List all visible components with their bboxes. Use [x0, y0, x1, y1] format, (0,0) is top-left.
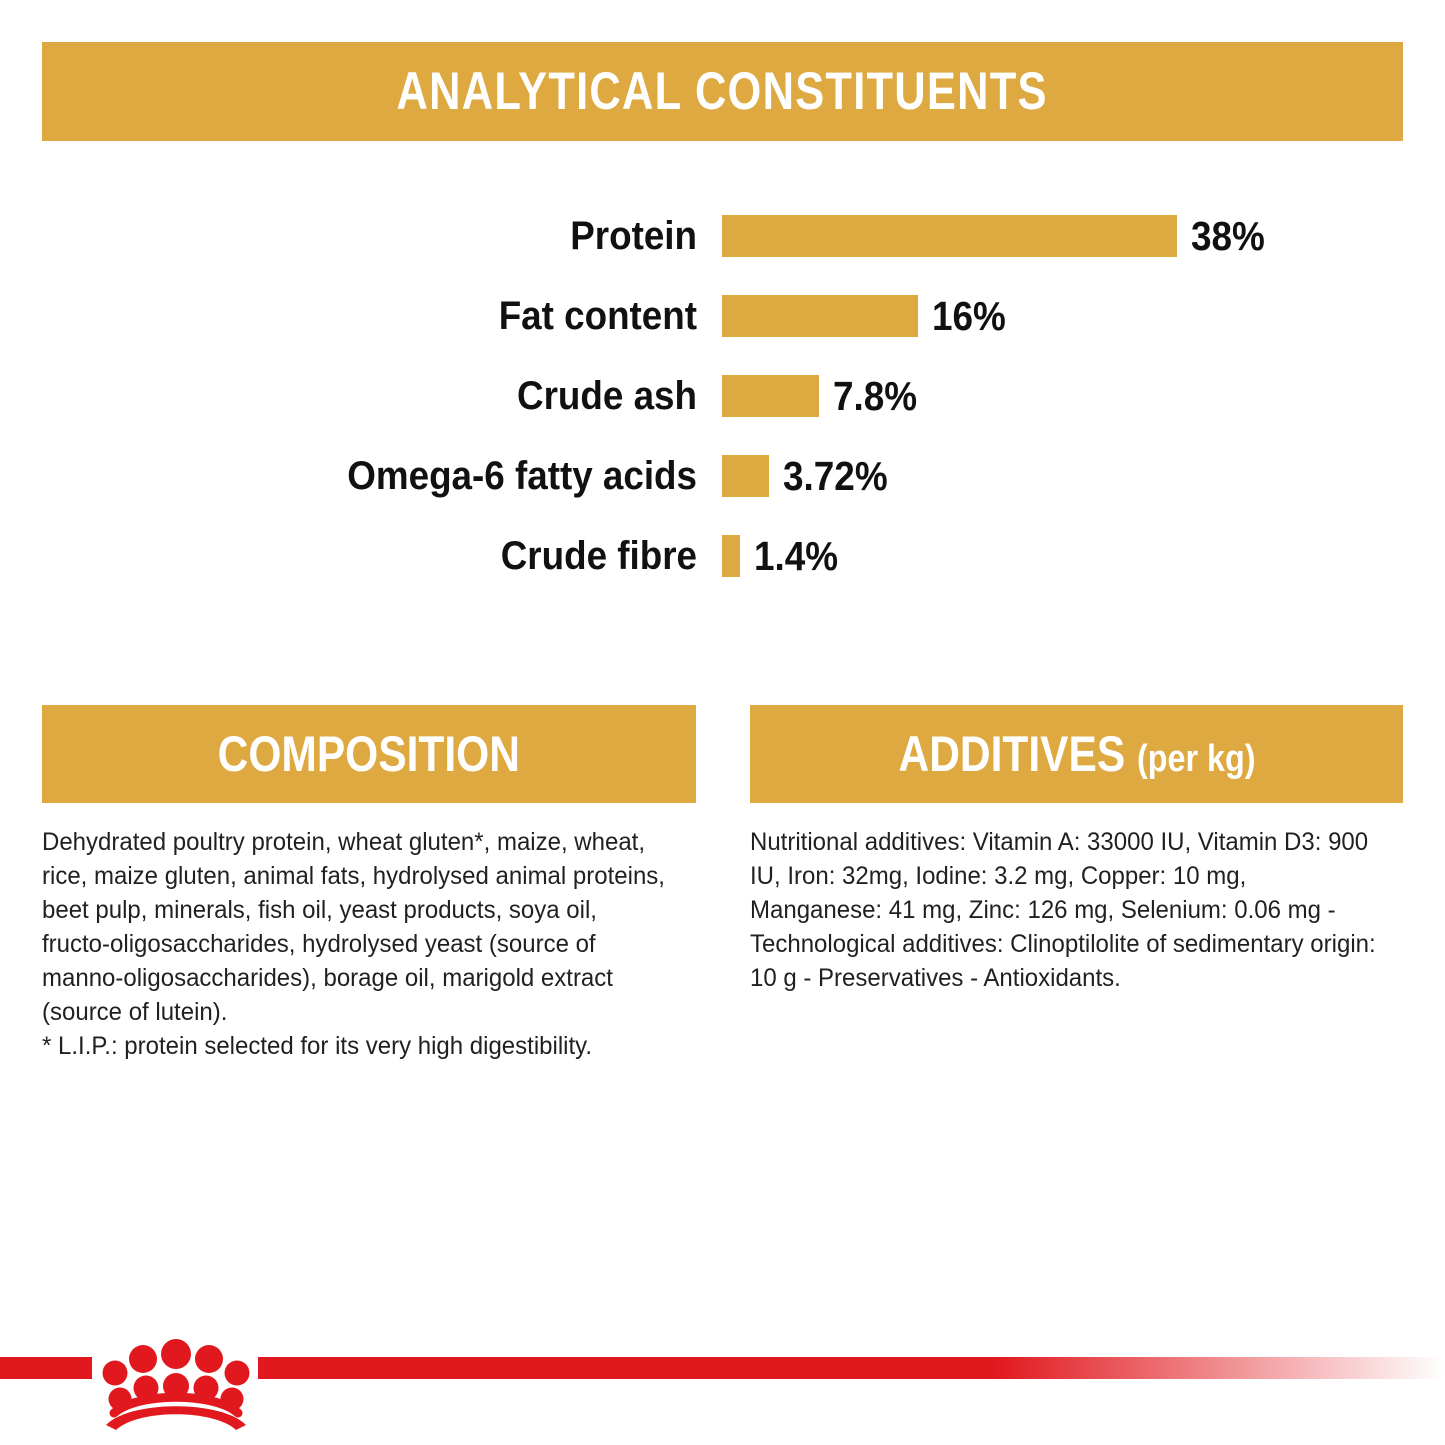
bar-row: Crude fibre 1.4% — [0, 516, 1445, 596]
bar-track-crude-ash: 7.8% — [722, 375, 926, 417]
banner-title: ANALYTICAL CONSTITUENTS — [397, 65, 1048, 118]
bar-row: Fat content 16% — [0, 276, 1445, 356]
analytical-constituents-banner: ANALYTICAL CONSTITUENTS — [42, 42, 1403, 141]
additives-text: Nutritional additives: Vitamin A: 33000 … — [750, 825, 1377, 995]
additives-heading: ADDITIVES — [898, 726, 1125, 782]
bar-value-protein: 38% — [1191, 216, 1265, 257]
bar-value-omega-6-fatty-acids: 3.72% — [783, 456, 888, 497]
composition-header: COMPOSITION — [42, 705, 696, 803]
additives-panel: ADDITIVES (per kg) Nutritional additives… — [750, 705, 1403, 995]
bar-label-protein: Protein — [56, 216, 697, 256]
bar-label-fat-content: Fat content — [56, 296, 697, 336]
additives-body: Nutritional additives: Vitamin A: 33000 … — [750, 825, 1377, 995]
bar-value-fat-content: 16% — [932, 296, 1006, 337]
bar-track-fat-content: 16% — [722, 295, 1014, 337]
bar-label-crude-ash: Crude ash — [56, 376, 697, 416]
bar-row: Protein 38% — [0, 196, 1445, 276]
bar-track-crude-fibre: 1.4% — [722, 535, 847, 577]
bar-value-crude-ash: 7.8% — [833, 376, 917, 417]
bar-fill-protein — [722, 215, 1177, 257]
brand-rule-left — [0, 1357, 92, 1379]
composition-heading: COMPOSITION — [218, 729, 520, 779]
bar-value-crude-fibre: 1.4% — [754, 536, 838, 577]
bar-track-omega-6-fatty-acids: 3.72% — [722, 455, 899, 497]
analytical-constituents-chart: Protein 38% Fat content 16% Crude ash 7.… — [0, 196, 1445, 596]
bar-label-omega-6-fatty-acids: Omega-6 fatty acids — [56, 456, 697, 496]
bar-fill-crude-fibre — [722, 535, 740, 577]
bar-label-crude-fibre: Crude fibre — [56, 536, 697, 576]
additives-heading-wrap: ADDITIVES (per kg) — [898, 729, 1255, 779]
composition-ingredients: Dehydrated poultry protein, wheat gluten… — [42, 825, 670, 1029]
additives-header: ADDITIVES (per kg) — [750, 705, 1403, 803]
bar-track-protein: 38% — [722, 215, 1273, 257]
bar-row: Crude ash 7.8% — [0, 356, 1445, 436]
composition-panel: COMPOSITION Dehydrated poultry protein, … — [42, 705, 696, 1063]
footer-brand — [0, 1330, 1445, 1445]
composition-footnote: * L.I.P.: protein selected for its very … — [42, 1029, 670, 1063]
bar-row: Omega-6 fatty acids 3.72% — [0, 436, 1445, 516]
bar-fill-crude-ash — [722, 375, 819, 417]
brand-rule-right — [258, 1357, 1445, 1379]
additives-heading-suffix: (per kg) — [1137, 738, 1255, 780]
nutrition-label-page: ANALYTICAL CONSTITUENTS Protein 38% Fat … — [0, 0, 1445, 1445]
royal-canin-crown-icon — [100, 1330, 252, 1430]
composition-body: Dehydrated poultry protein, wheat gluten… — [42, 825, 670, 1063]
bar-fill-omega-6-fatty-acids — [722, 455, 769, 497]
bar-fill-fat-content — [722, 295, 918, 337]
